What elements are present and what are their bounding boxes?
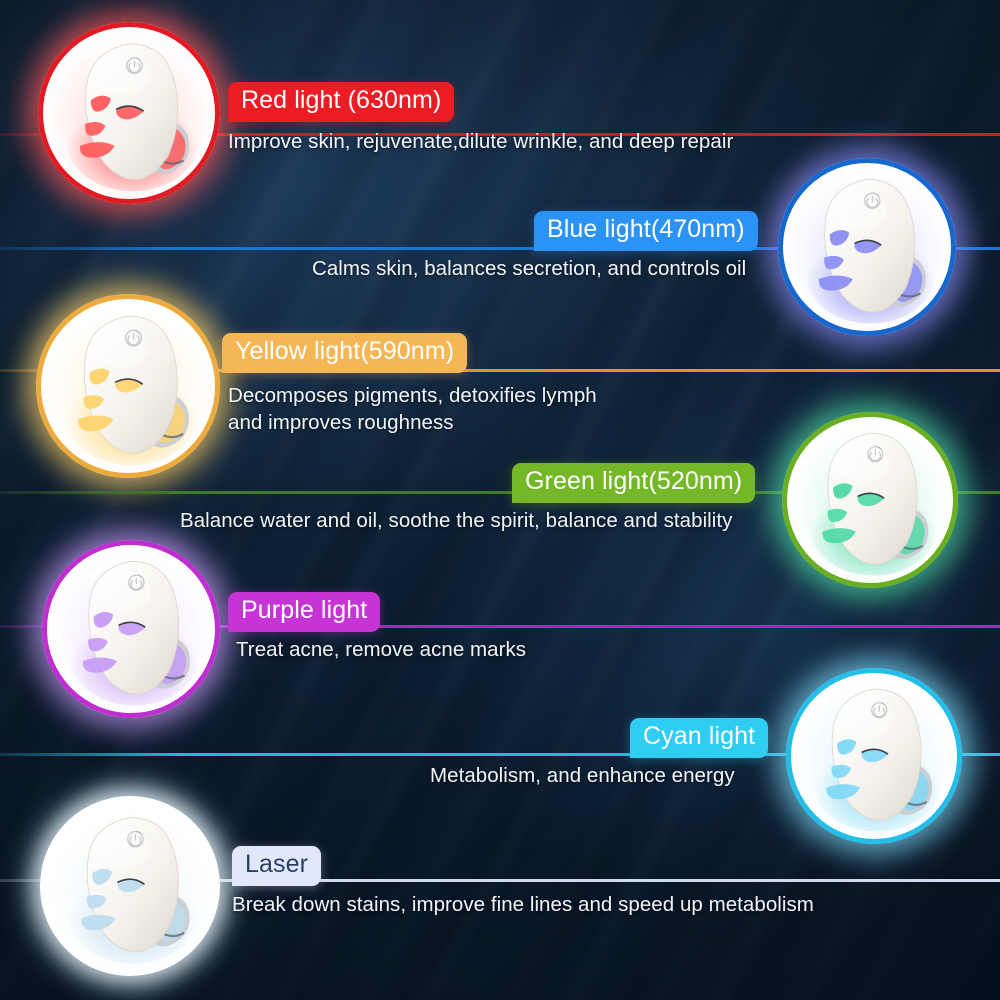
- laser-mask: [40, 796, 220, 976]
- badge-purple[interactable]: Purple light: [228, 592, 380, 632]
- badge-yellow[interactable]: Yellow light(590nm): [222, 333, 467, 373]
- description-cyan: Metabolism, and enhance energy: [430, 762, 735, 789]
- mask-ring-border: [782, 412, 958, 588]
- blue-light-mask: [778, 158, 956, 336]
- mask-ring-border: [40, 796, 220, 976]
- red-light-mask: [38, 22, 220, 204]
- badge-green[interactable]: Green light(520nm): [512, 463, 755, 503]
- mask-ring-border: [778, 158, 956, 336]
- mask-ring-border: [786, 668, 962, 844]
- badge-blue[interactable]: Blue light(470nm): [534, 211, 758, 251]
- yellow-light-mask: [36, 294, 220, 478]
- mask-ring-border: [36, 294, 220, 478]
- green-light-mask: [782, 412, 958, 588]
- mask-ring-border: [42, 540, 220, 718]
- badge-red[interactable]: Red light (630nm): [228, 82, 454, 122]
- mask-ring-border: [38, 22, 220, 204]
- badge-cyan[interactable]: Cyan light: [630, 718, 768, 758]
- cyan-light-mask: [786, 668, 962, 844]
- description-blue: Calms skin, balances secretion, and cont…: [312, 255, 746, 282]
- infographic-stage: Red light (630nm) Improve skin, rejuvena…: [0, 0, 1000, 1000]
- description-laser: Break down stains, improve fine lines an…: [232, 891, 814, 918]
- description-red: Improve skin, rejuvenate,dilute wrinkle,…: [228, 128, 733, 155]
- badge-laser[interactable]: Laser: [232, 846, 321, 886]
- description-green: Balance water and oil, soothe the spirit…: [180, 507, 732, 534]
- purple-light-mask: [42, 540, 220, 718]
- description-yellow: Decomposes pigments, detoxifies lymph an…: [228, 382, 597, 437]
- description-purple: Treat acne, remove acne marks: [236, 636, 526, 663]
